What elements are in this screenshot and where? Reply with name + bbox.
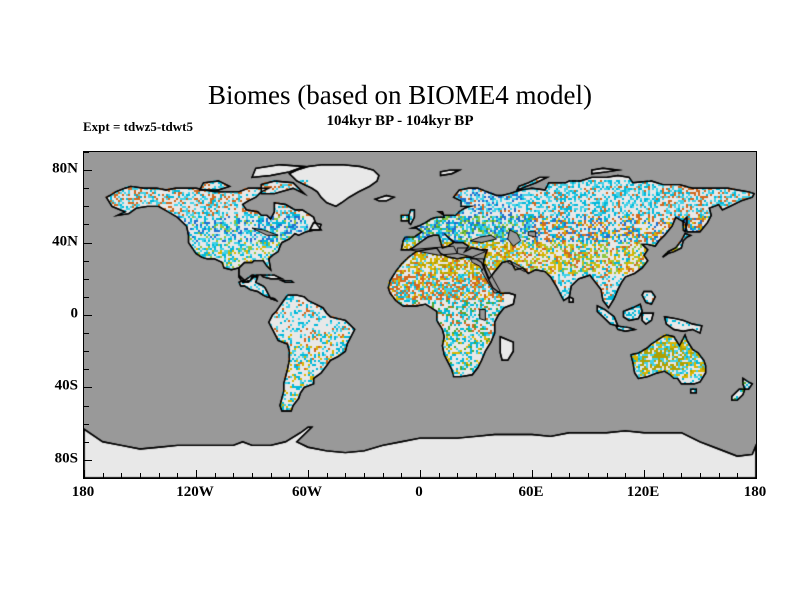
x-tick (420, 470, 421, 478)
x-tick (215, 473, 216, 478)
y-tick (84, 152, 89, 153)
x-tick (140, 473, 141, 478)
x-tick (532, 470, 533, 478)
y-tick-label: 40N (52, 233, 78, 250)
x-tick-label: 0 (415, 484, 423, 501)
y-tick-label: 0 (71, 306, 79, 323)
x-tick (551, 473, 552, 478)
y-tick (84, 442, 89, 443)
y-tick (84, 261, 89, 262)
x-tick (663, 473, 664, 478)
x-tick (252, 473, 253, 478)
x-tick (327, 473, 328, 478)
x-tick (681, 473, 682, 478)
x-tick-label: 180 (744, 484, 767, 501)
x-tick (84, 470, 85, 478)
x-tick (756, 470, 757, 478)
y-tick-label: 40S (55, 378, 78, 395)
x-tick (644, 470, 645, 478)
x-tick (103, 473, 104, 478)
x-tick (383, 473, 384, 478)
y-tick (84, 424, 89, 425)
y-tick (84, 369, 89, 370)
x-tick (513, 473, 514, 478)
x-tick-label: 120E (627, 484, 660, 501)
experiment-label: Expt = tdwz5-tdwt5 (83, 119, 193, 134)
y-tick-label: 80S (55, 450, 78, 467)
y-tick (84, 243, 92, 244)
y-tick (84, 224, 89, 225)
page-title: Biomes (based on BIOME4 model) (0, 80, 800, 110)
x-tick (457, 473, 458, 478)
y-tick (84, 460, 92, 461)
y-tick (84, 297, 89, 298)
x-tick (177, 473, 178, 478)
x-tick (569, 473, 570, 478)
y-tick (84, 206, 89, 207)
x-tick (401, 473, 402, 478)
x-tick-label: 120W (176, 484, 214, 501)
x-tick (289, 473, 290, 478)
biome-map (84, 152, 756, 478)
x-tick (439, 473, 440, 478)
x-tick (588, 473, 589, 478)
x-tick (308, 470, 309, 478)
figure-canvas: Biomes (based on BIOME4 model) 104kyr BP… (0, 0, 800, 600)
y-tick (84, 315, 92, 316)
map-plot-frame (83, 151, 757, 479)
x-tick (625, 473, 626, 478)
y-tick (84, 170, 92, 171)
x-tick-label: 180 (72, 484, 95, 501)
y-tick-label: 80N (52, 161, 78, 178)
x-tick-label: 60W (292, 484, 322, 501)
x-tick (345, 473, 346, 478)
y-tick (84, 351, 89, 352)
x-tick (607, 473, 608, 478)
y-tick (84, 333, 89, 334)
y-tick (84, 406, 89, 407)
x-tick (476, 473, 477, 478)
y-tick (84, 478, 89, 479)
x-tick (700, 473, 701, 478)
x-tick (271, 473, 272, 478)
y-tick (84, 279, 89, 280)
x-tick-label: 60E (518, 484, 543, 501)
x-tick (196, 470, 197, 478)
x-tick (737, 473, 738, 478)
x-tick (159, 473, 160, 478)
x-tick (233, 473, 234, 478)
y-tick (84, 387, 92, 388)
x-tick (364, 473, 365, 478)
x-tick (495, 473, 496, 478)
x-tick (719, 473, 720, 478)
y-tick (84, 188, 89, 189)
x-tick (121, 473, 122, 478)
